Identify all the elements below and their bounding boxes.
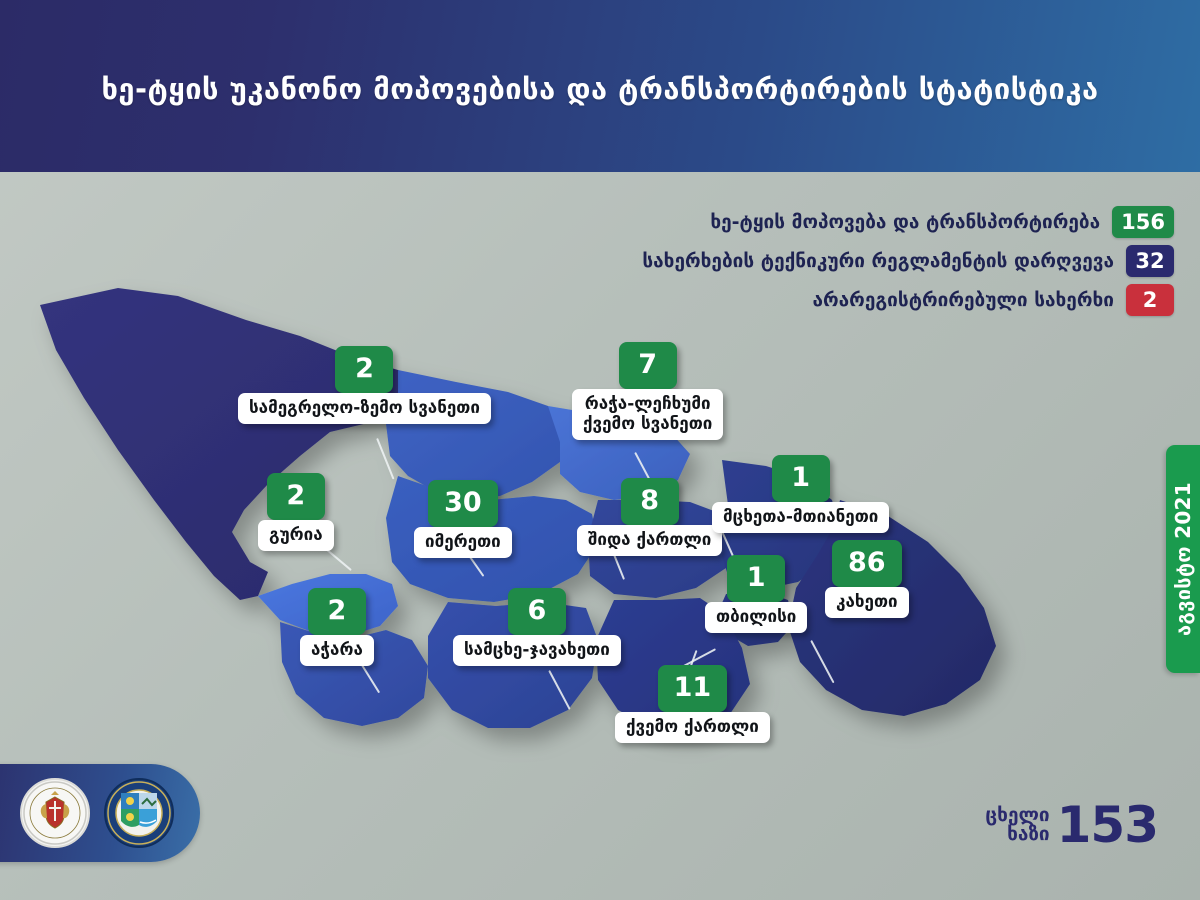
map-marker-kvemo-kartli[interactable]: 11 ქვემო ქართლი (615, 665, 770, 743)
seal-emblem-icon (22, 780, 88, 846)
marker-label: იმერეთი (414, 527, 512, 558)
date-tab: აგვისტო 2021 (1166, 445, 1200, 673)
map-marker-guria[interactable]: 2 გურია (258, 473, 334, 551)
legend-count-badge: 32 (1126, 245, 1174, 277)
marker-value: 30 (428, 480, 498, 527)
marker-label: კახეთი (825, 587, 909, 618)
map-marker-shida-kartli[interactable]: 8 შიდა ქართლი (577, 478, 722, 556)
seal-emblem-icon (106, 780, 172, 846)
map-marker-mtskheta-mtianeti[interactable]: 1 მცხეთა-მთიანეთი (712, 455, 889, 533)
marker-value: 2 (308, 588, 366, 635)
marker-label: გურია (258, 520, 334, 551)
hotline-words: ცხელი ხაზი (985, 806, 1049, 845)
map-marker-kakheti[interactable]: 86 კახეთი (825, 540, 909, 618)
page-title: ხე-ტყის უკანონო მოპოვებისა და ტრანსპორტი… (0, 72, 1200, 106)
map-marker-tbilisi[interactable]: 1 თბილისი (705, 555, 807, 633)
marker-label: ქვემო ქართლი (615, 712, 770, 743)
legend-label: ხე-ტყის მოპოვება და ტრანსპორტირება (710, 211, 1100, 233)
legend-item-illegal-logging-transport: ხე-ტყის მოპოვება და ტრანსპორტირება 156 (710, 206, 1174, 238)
legend: ხე-ტყის მოპოვება და ტრანსპორტირება 156 ს… (642, 206, 1174, 316)
legend-count-badge: 156 (1112, 206, 1174, 238)
infographic-page: ხე-ტყის უკანონო მოპოვებისა და ტრანსპორტი… (0, 0, 1200, 900)
marker-label: შიდა ქართლი (577, 525, 722, 556)
marker-value: 6 (508, 588, 566, 635)
legend-label: სახერხების ტექნიკური რეგლამენტის დარღვევ… (642, 250, 1114, 272)
marker-label: აჭარა (300, 635, 374, 666)
marker-label: რაჭა-ლეჩხუმი ქვემო სვანეთი (572, 389, 723, 440)
map-marker-racha-lechkhumi-kvemo-svaneti[interactable]: 7 რაჭა-ლეჩხუმი ქვემო სვანეთი (572, 342, 723, 440)
marker-value: 2 (335, 346, 393, 393)
environmental-supervision-seal-icon (104, 778, 174, 848)
hotline-line2: ხაზი (985, 825, 1049, 844)
map-marker-samegrelo-zemo-svaneti[interactable]: 2 სამეგრელო-ზემო სვანეთი (238, 346, 491, 424)
marker-value: 1 (727, 555, 785, 602)
map-marker-samtskhe-javakheti[interactable]: 6 სამცხე-ჯავახეთი (453, 588, 621, 666)
header-banner: ხე-ტყის უკანონო მოპოვებისა და ტრანსპორტი… (0, 0, 1200, 172)
marker-value: 7 (619, 342, 677, 389)
hotline-number: 153 (1057, 802, 1158, 848)
legend-item-sawmill-regulation-violation: სახერხების ტექნიკური რეგლამენტის დარღვევ… (642, 245, 1174, 277)
ministry-of-environment-seal-icon (20, 778, 90, 848)
region-abkhazia (40, 288, 430, 600)
marker-label: სამცხე-ჯავახეთი (453, 635, 621, 666)
marker-label: თბილისი (705, 602, 807, 633)
marker-value: 86 (832, 540, 902, 587)
map-marker-adjara[interactable]: 2 აჭარა (300, 588, 374, 666)
marker-label: სამეგრელო-ზემო სვანეთი (238, 393, 491, 424)
legend-label: არარეგისტრირებული სახერხი (813, 289, 1115, 311)
marker-label: მცხეთა-მთიანეთი (712, 502, 889, 533)
hotline: ცხელი ხაზი 153 (985, 802, 1158, 848)
marker-value: 2 (267, 473, 325, 520)
marker-value: 8 (621, 478, 679, 525)
footer-logo-pill (0, 764, 200, 862)
marker-value: 11 (658, 665, 728, 712)
marker-value: 1 (772, 455, 830, 502)
legend-item-unregistered-sawmill: არარეგისტრირებული სახერხი 2 (813, 284, 1175, 316)
map-marker-imereti[interactable]: 30 იმერეთი (414, 480, 512, 558)
date-tab-label: აგვისტო 2021 (1171, 482, 1195, 636)
legend-count-badge: 2 (1126, 284, 1174, 316)
